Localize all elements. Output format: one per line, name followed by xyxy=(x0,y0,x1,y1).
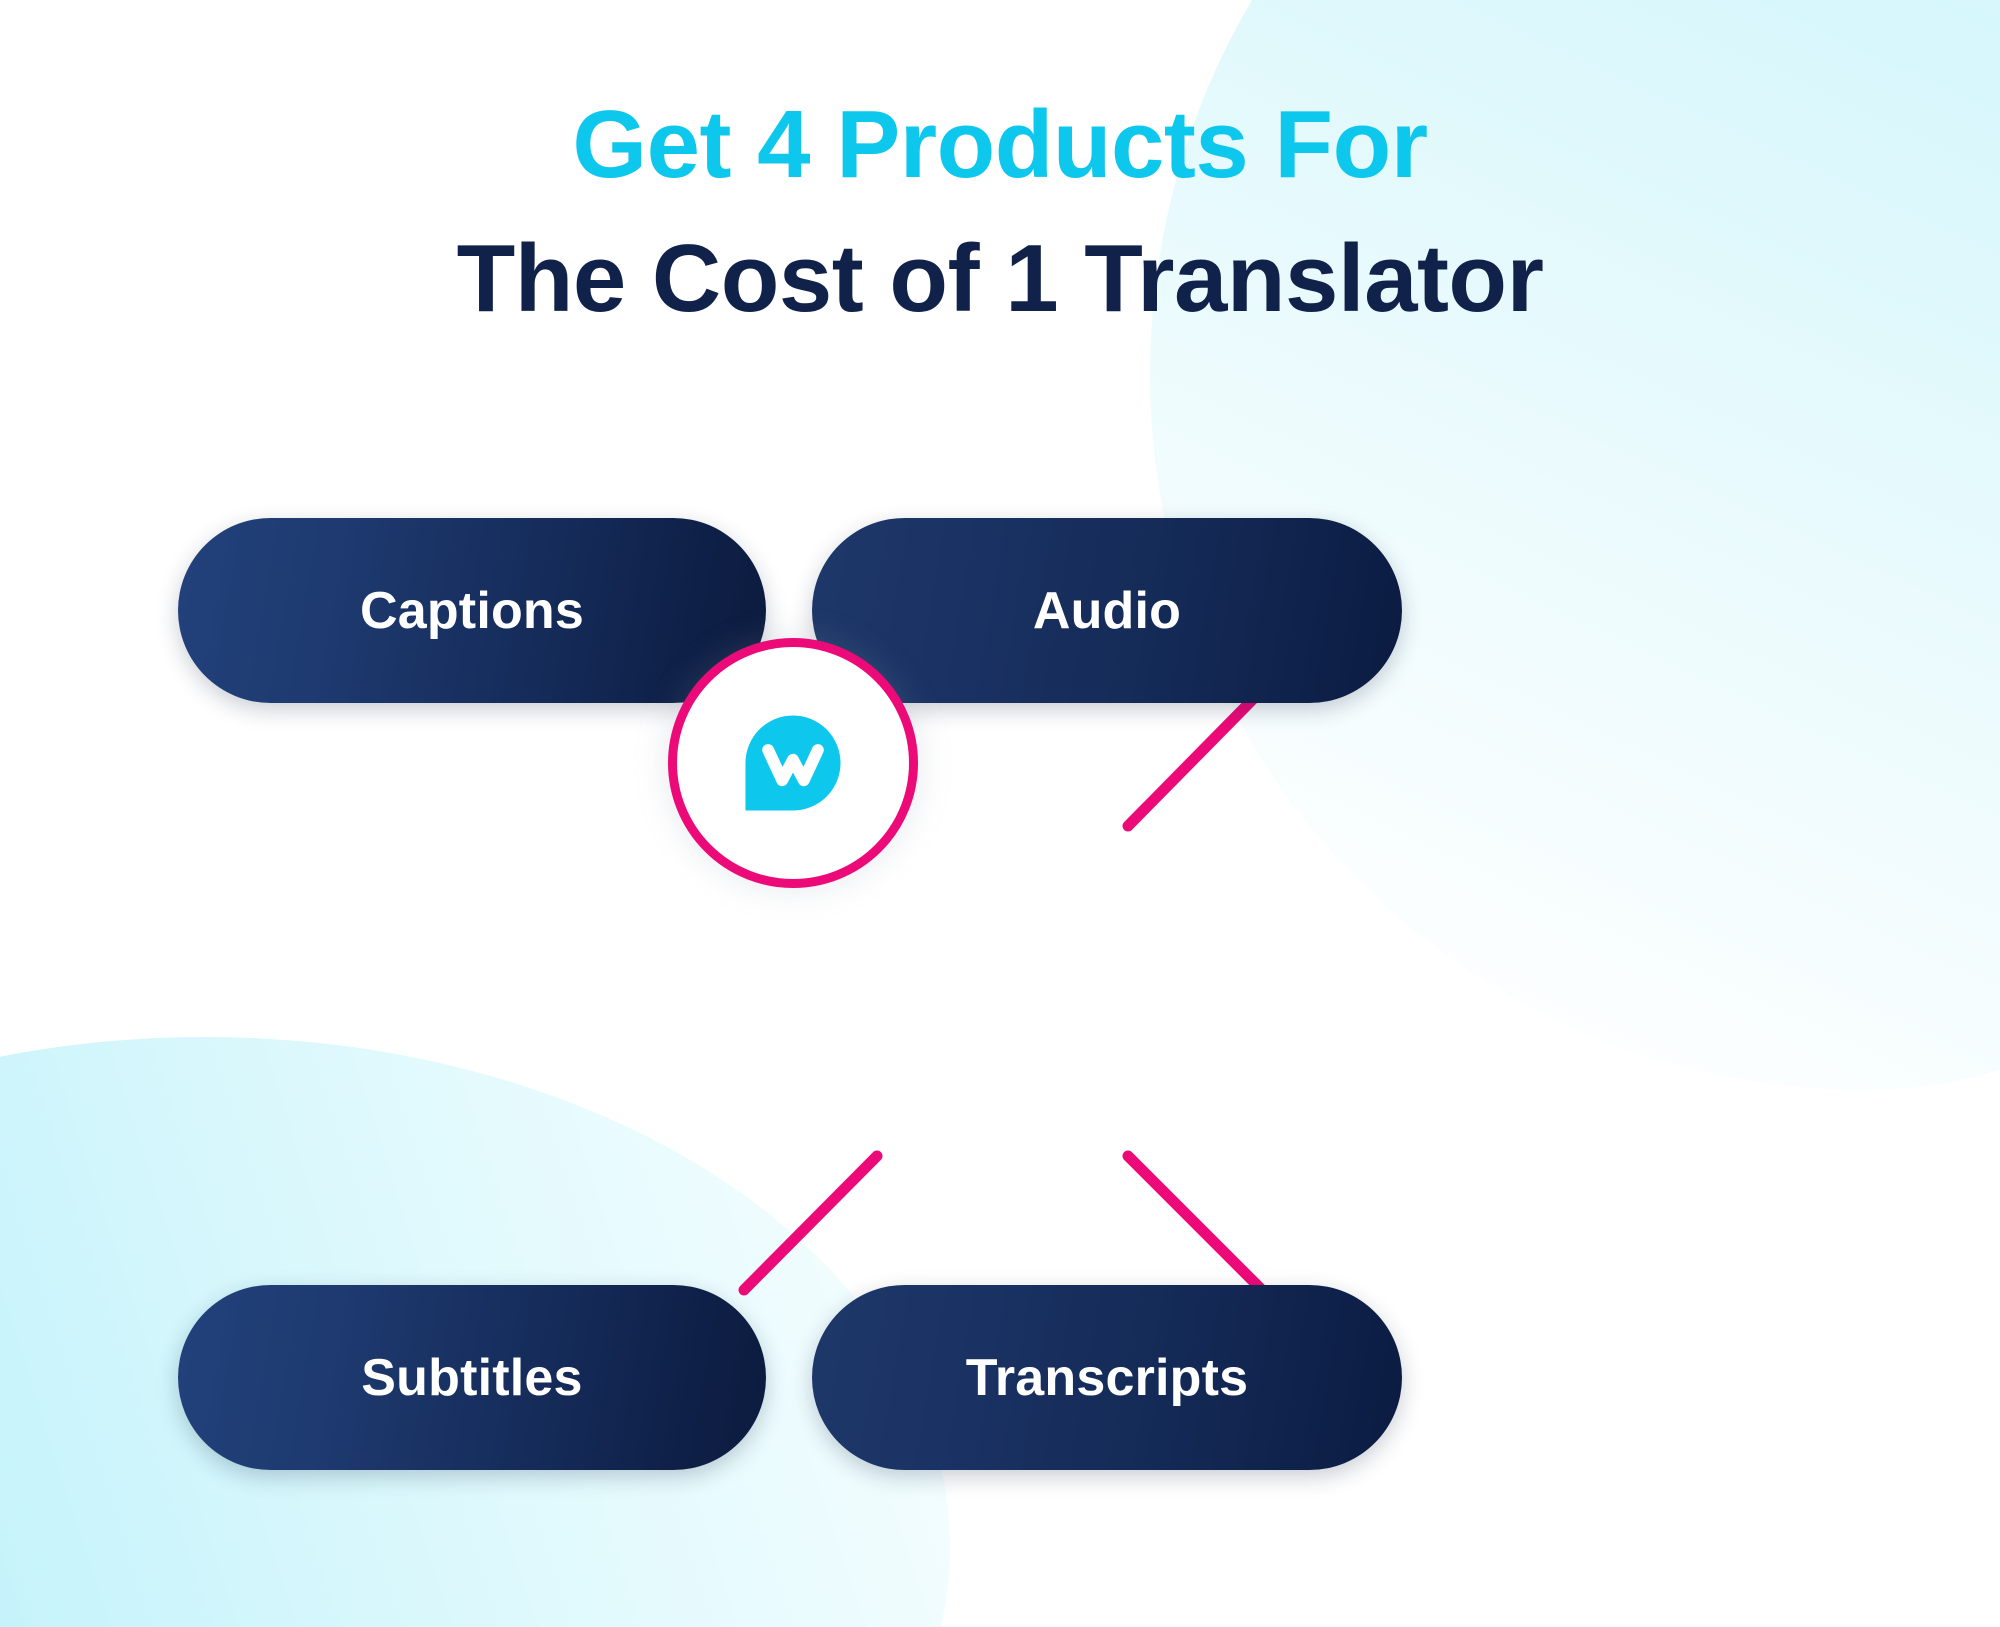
product-label-captions: Captions xyxy=(360,581,584,641)
product-node-audio[interactable]: Audio xyxy=(812,518,1402,703)
center-hub xyxy=(668,638,918,888)
spoke-to-audio xyxy=(1128,690,1262,826)
spoke-to-subtitles xyxy=(744,1156,877,1290)
product-label-audio: Audio xyxy=(1033,581,1181,641)
spoke-to-transcripts xyxy=(1128,1156,1262,1290)
product-label-transcripts: Transcripts xyxy=(966,1348,1249,1408)
product-label-subtitles: Subtitles xyxy=(361,1348,582,1408)
products-hub-diagram: Captions Audio Subtitles Transcripts xyxy=(0,430,2000,1490)
headline-primary: Get 4 Products For xyxy=(0,96,2000,194)
infographic-canvas: Get 4 Products For The Cost of 1 Transla… xyxy=(0,0,2000,1627)
heading-block: Get 4 Products For The Cost of 1 Transla… xyxy=(0,96,2000,328)
product-node-subtitles[interactable]: Subtitles xyxy=(178,1285,766,1470)
product-node-captions[interactable]: Captions xyxy=(178,518,766,703)
headline-secondary: The Cost of 1 Translator xyxy=(0,230,2000,328)
verbit-speech-bubble-logo-icon xyxy=(739,709,847,817)
product-node-transcripts[interactable]: Transcripts xyxy=(812,1285,1402,1470)
